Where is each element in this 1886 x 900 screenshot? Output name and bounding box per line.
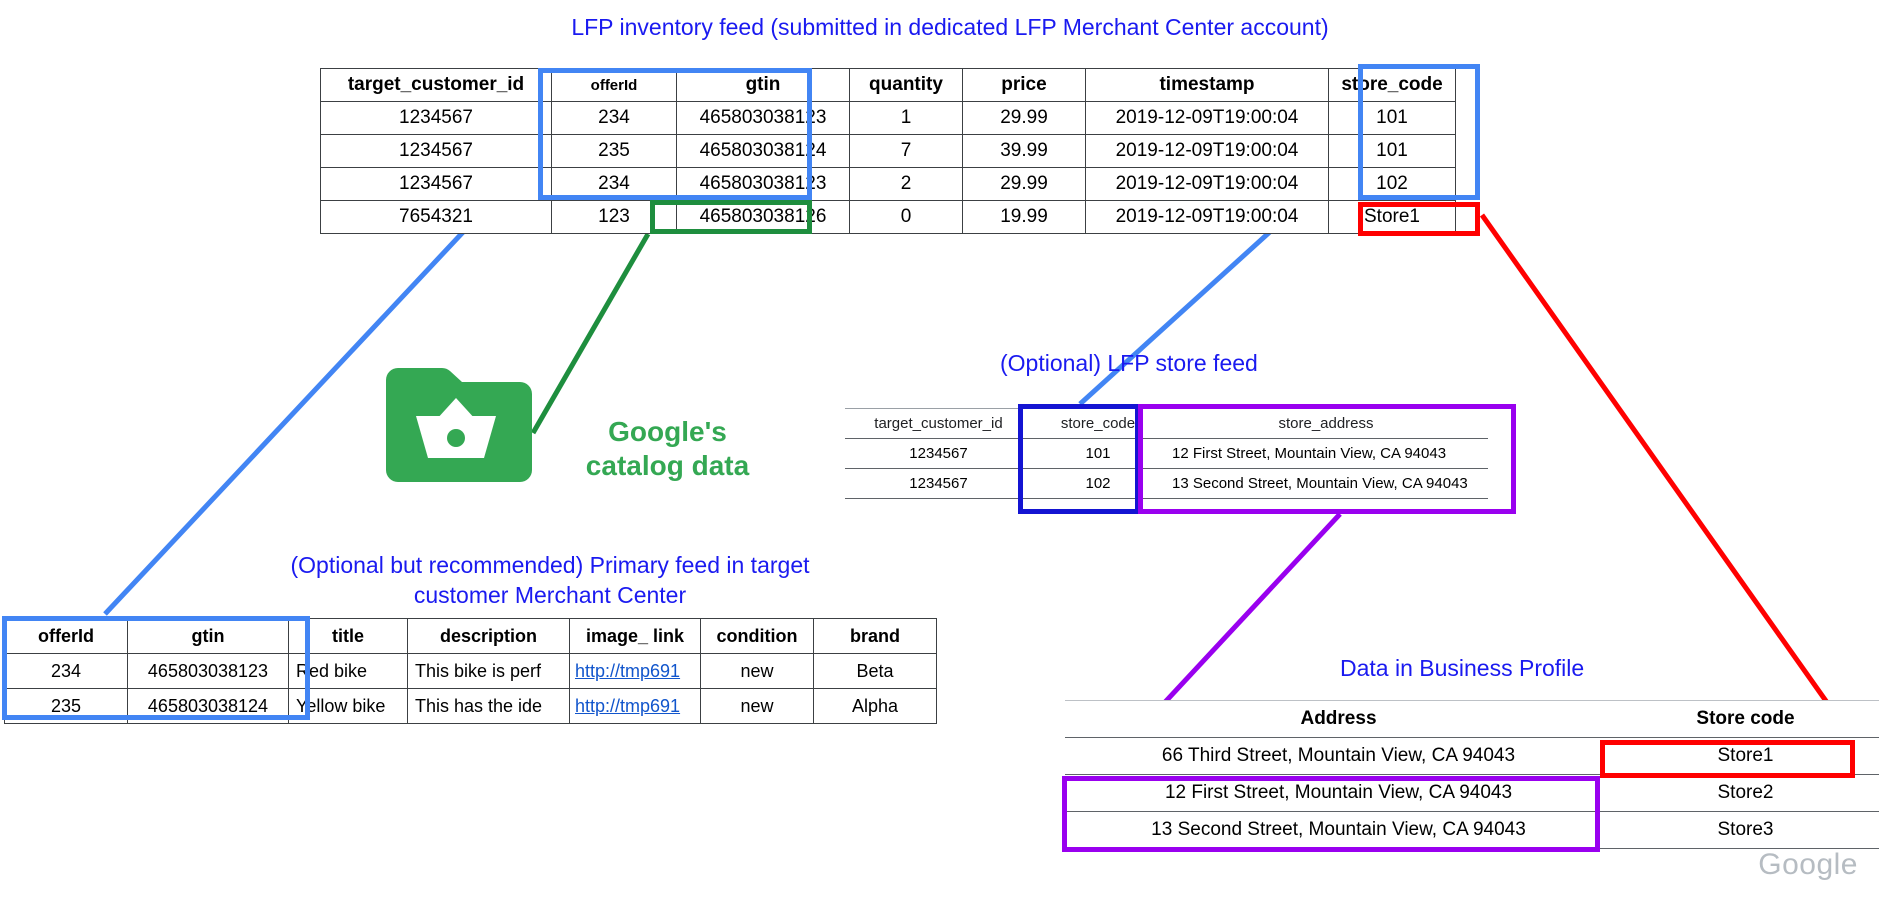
column-header-image-link: image_ link — [570, 619, 701, 654]
cell-offerid: 235 — [5, 689, 128, 724]
column-header-address: Address — [1065, 701, 1612, 738]
cell-store-code: Store1 — [1612, 738, 1879, 775]
cell-offerid: 234 — [5, 654, 128, 689]
cell-gtin: 465803038123 — [677, 168, 850, 201]
column-header-timestamp: timestamp — [1086, 69, 1329, 102]
cell-image-link: http://tmp691 — [570, 689, 701, 724]
cell-title: Red bike — [289, 654, 408, 689]
column-header-target-customer-id: target_customer_id — [321, 69, 552, 102]
column-header-store-code: store_code — [1032, 409, 1164, 439]
cell-condition: new — [701, 654, 814, 689]
cell-description: This has the ide — [408, 689, 570, 724]
cell-condition: new — [701, 689, 814, 724]
cell-price: 39.99 — [963, 135, 1086, 168]
cell-target-customer-id: 1234567 — [845, 469, 1032, 499]
column-header-target-customer-id: target_customer_id — [845, 409, 1032, 439]
table-row: 12 First Street, Mountain View, CA 94043… — [1065, 775, 1879, 812]
heading-lfp-inventory-feed: LFP inventory feed (submitted in dedicat… — [260, 12, 1640, 42]
cell-quantity: 1 — [850, 102, 963, 135]
cell-target-customer-id: 1234567 — [321, 135, 552, 168]
table-row: 13 Second Street, Mountain View, CA 9404… — [1065, 812, 1879, 849]
column-header-gtin: gtin — [128, 619, 289, 654]
cell-quantity: 0 — [850, 201, 963, 234]
heading-primary-feed: (Optional but recommended) Primary feed … — [230, 550, 870, 610]
cell-price: 29.99 — [963, 102, 1086, 135]
table-row: 234 465803038123 Red bike This bike is p… — [5, 654, 937, 689]
column-header-store-code: Store code — [1612, 701, 1879, 738]
connector-inventory-to-catalog — [533, 234, 648, 433]
cell-quantity: 2 — [850, 168, 963, 201]
cell-gtin: 465803038126 — [677, 201, 850, 234]
cell-address: 66 Third Street, Mountain View, CA 94043 — [1065, 738, 1612, 775]
lfp-store-feed-table: target_customer_id store_code store_addr… — [845, 408, 1488, 499]
table-row: 1234567 234 465803038123 2 29.99 2019-12… — [321, 168, 1456, 201]
heading-lfp-store-feed: (Optional) LFP store feed — [1000, 348, 1600, 378]
cell-brand: Alpha — [814, 689, 937, 724]
column-header-store-address: store_address — [1164, 409, 1488, 439]
business-profile-table: Address Store code 66 Third Street, Moun… — [1065, 700, 1879, 849]
cell-description: This bike is perf — [408, 654, 570, 689]
heading-business-profile: Data in Business Profile — [1340, 653, 1840, 683]
table-header-row: offerId gtin title description image_ li… — [5, 619, 937, 654]
cell-target-customer-id: 7654321 — [321, 201, 552, 234]
diagram-canvas: LFP inventory feed (submitted in dedicat… — [0, 0, 1886, 900]
cell-store-code: 102 — [1032, 469, 1164, 499]
table-row: 66 Third Street, Mountain View, CA 94043… — [1065, 738, 1879, 775]
image-link-hyperlink[interactable]: http://tmp691 — [570, 696, 700, 717]
cell-price: 19.99 — [963, 201, 1086, 234]
column-header-title: title — [289, 619, 408, 654]
cell-timestamp: 2019-12-09T19:00:04 — [1086, 168, 1329, 201]
column-header-quantity: quantity — [850, 69, 963, 102]
column-header-price: price — [963, 69, 1086, 102]
table-header-row: target_customer_id store_code store_addr… — [845, 409, 1488, 439]
cell-store-code: Store2 — [1612, 775, 1879, 812]
cell-image-link: http://tmp691 — [570, 654, 701, 689]
primary-feed-table: offerId gtin title description image_ li… — [4, 618, 937, 724]
cell-timestamp: 2019-12-09T19:00:04 — [1086, 135, 1329, 168]
cell-timestamp: 2019-12-09T19:00:04 — [1086, 102, 1329, 135]
cell-price: 29.99 — [963, 168, 1086, 201]
cell-address: 13 Second Street, Mountain View, CA 9404… — [1065, 812, 1612, 849]
table-row: 1234567 102 13 Second Street, Mountain V… — [845, 469, 1488, 499]
table-row: 1234567 101 12 First Street, Mountain Vi… — [845, 439, 1488, 469]
column-header-description: description — [408, 619, 570, 654]
google-wordmark: Google — [1758, 848, 1858, 882]
cell-target-customer-id: 1234567 — [321, 168, 552, 201]
lfp-inventory-feed-table: target_customer_id offerId gtin quantity… — [320, 68, 1456, 234]
cell-gtin: 465803038124 — [128, 689, 289, 724]
table-header-row: Address Store code — [1065, 701, 1879, 738]
cell-title: Yellow bike — [289, 689, 408, 724]
cell-brand: Beta — [814, 654, 937, 689]
cell-store-code: Store1 — [1329, 201, 1456, 234]
cell-store-address: 12 First Street, Mountain View, CA 94043 — [1164, 439, 1488, 469]
cell-store-code: Store3 — [1612, 812, 1879, 849]
catalog-data-label: Google's catalog data — [560, 415, 775, 483]
cell-gtin: 465803038123 — [677, 102, 850, 135]
cell-store-address: 13 Second Street, Mountain View, CA 9404… — [1164, 469, 1488, 499]
cell-store-code: 101 — [1032, 439, 1164, 469]
table-row: 235 465803038124 Yellow bike This has th… — [5, 689, 937, 724]
cell-quantity: 7 — [850, 135, 963, 168]
cell-target-customer-id: 1234567 — [845, 439, 1032, 469]
cell-store-code: 101 — [1329, 135, 1456, 168]
cell-timestamp: 2019-12-09T19:00:04 — [1086, 201, 1329, 234]
cell-offerid: 234 — [552, 102, 677, 135]
table-row: 7654321 123 465803038126 0 19.99 2019-12… — [321, 201, 1456, 234]
table-row: 1234567 235 465803038124 7 39.99 2019-12… — [321, 135, 1456, 168]
cell-gtin: 465803038124 — [677, 135, 850, 168]
column-header-gtin: gtin — [677, 69, 850, 102]
column-header-offerid: offerId — [5, 619, 128, 654]
catalog-folder-icon — [380, 358, 532, 488]
table-row: 1234567 234 465803038123 1 29.99 2019-12… — [321, 102, 1456, 135]
table-header-row: target_customer_id offerId gtin quantity… — [321, 69, 1456, 102]
column-header-condition: condition — [701, 619, 814, 654]
cell-offerid: 123 — [552, 201, 677, 234]
cell-offerid: 235 — [552, 135, 677, 168]
image-link-hyperlink[interactable]: http://tmp691 — [570, 661, 700, 682]
cell-target-customer-id: 1234567 — [321, 102, 552, 135]
column-header-store-code: store_code — [1329, 69, 1456, 102]
cell-gtin: 465803038123 — [128, 654, 289, 689]
cell-store-code: 101 — [1329, 102, 1456, 135]
cell-offerid: 234 — [552, 168, 677, 201]
column-header-offerid: offerId — [552, 69, 677, 102]
cell-address: 12 First Street, Mountain View, CA 94043 — [1065, 775, 1612, 812]
cell-store-code: 102 — [1329, 168, 1456, 201]
column-header-brand: brand — [814, 619, 937, 654]
